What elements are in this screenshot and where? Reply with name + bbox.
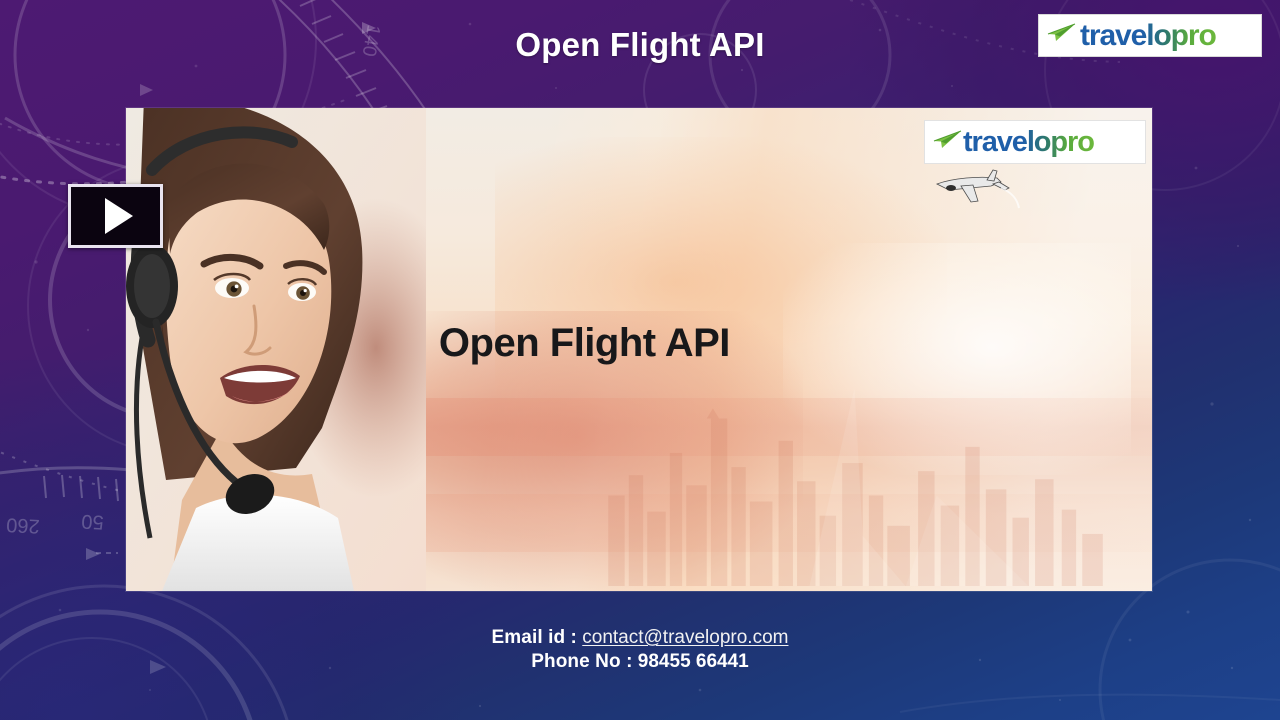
- media-headline: Open Flight API: [439, 321, 730, 366]
- presentation-slide: 140 150 260: [0, 0, 1280, 720]
- media-travelopro-logo: travelopro: [924, 120, 1146, 164]
- paper-plane-icon: [933, 128, 963, 157]
- contact-info: Email id : contact@travelopro.com Phone …: [0, 626, 1280, 675]
- email-link[interactable]: contact@travelopro.com: [582, 627, 788, 648]
- play-button[interactable]: [68, 184, 163, 248]
- brand-wordmark: travelopro: [963, 128, 1094, 157]
- phone-label: Phone No :: [531, 651, 632, 672]
- video-thumbnail[interactable]: Open Flight API: [126, 108, 1152, 591]
- travelopro-logo[interactable]: travelopro: [1038, 14, 1262, 57]
- phone-row: Phone No : 98455 66441: [0, 650, 1280, 674]
- phone-number: 98455 66441: [638, 651, 749, 672]
- paper-plane-icon: [1047, 21, 1077, 50]
- agent-photo-illustration: [126, 108, 426, 591]
- city-skyline-graphic: [598, 374, 1132, 587]
- media-photo: Open Flight API: [126, 108, 1152, 591]
- airplane-icon: [931, 168, 1021, 216]
- email-label: Email id :: [492, 627, 577, 648]
- email-row: Email id : contact@travelopro.com: [0, 626, 1280, 650]
- brand-wordmark: travelopro: [1080, 21, 1216, 51]
- play-triangle-icon: [105, 198, 133, 234]
